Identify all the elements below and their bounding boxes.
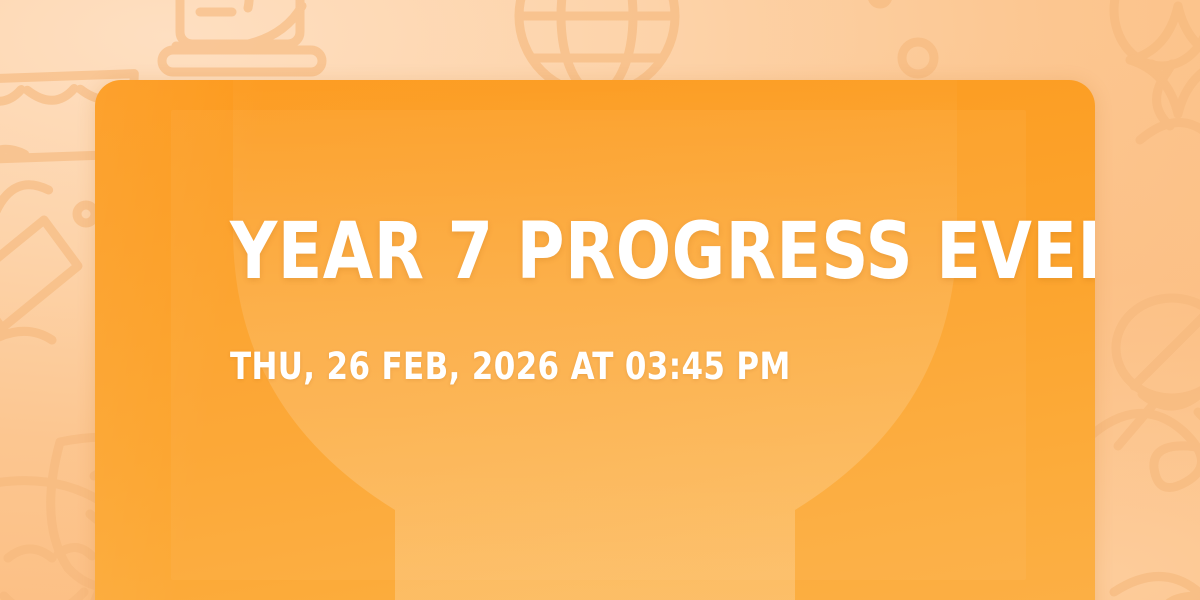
confetti-dot-icon — [902, 42, 934, 74]
podium-lectern-icon — [162, 0, 322, 72]
confetti-dot-icon — [872, 0, 888, 4]
ribbon-swirl-icon — [1140, 122, 1200, 140]
microphone-icon — [1116, 298, 1200, 450]
event-text-block: YEAR 7 PROGRESS EVENING 2026 THU, 26 FEB… — [230, 80, 1095, 600]
event-card: YEAR 7 PROGRESS EVENING 2026 THU, 26 FEB… — [95, 80, 1095, 600]
event-title: YEAR 7 PROGRESS EVENING 2026 — [230, 212, 1095, 292]
event-datetime: THU, 26 FEB, 2026 AT 03:45 PM — [230, 347, 791, 387]
streamer-swirl-icon — [1088, 413, 1200, 600]
event-banner: YEAR 7 PROGRESS EVENING 2026 THU, 26 FEB… — [0, 0, 1200, 600]
